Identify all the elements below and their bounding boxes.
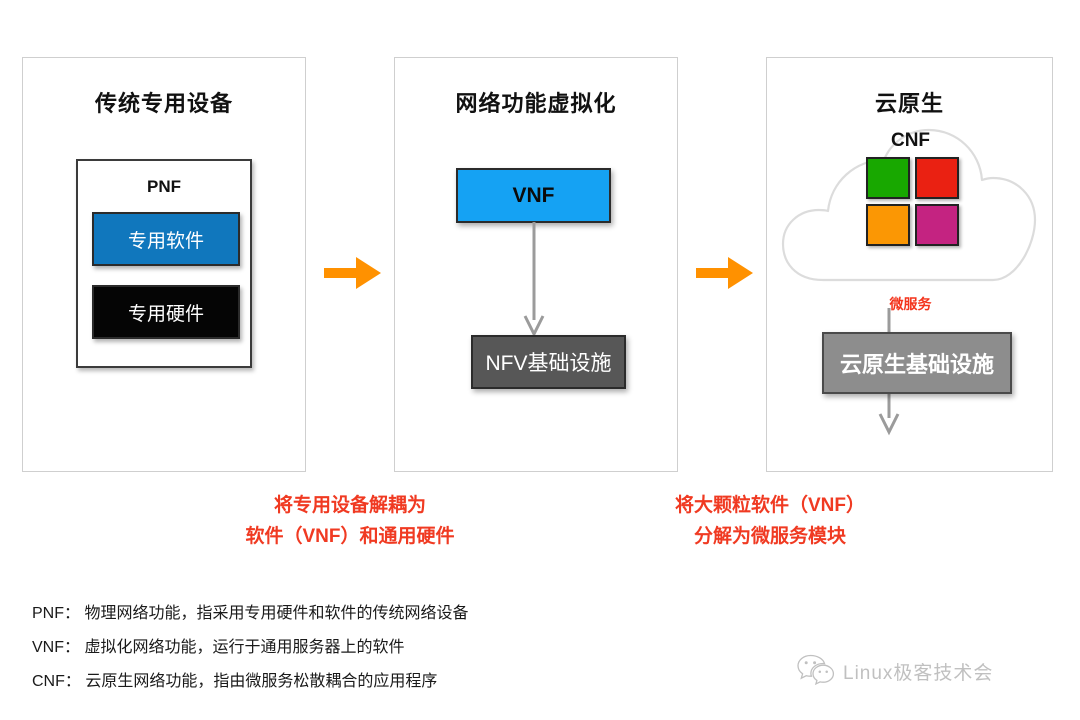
arrow-nfv-to-cloudnative-icon (694, 250, 756, 296)
legend-desc-vnf: 虚拟化网络功能，运行于通用服务器上的软件 (84, 639, 404, 656)
legend: PNF： 物理网络功能，指采用专用硬件和软件的传统网络设备 VNF： 虚拟化网络… (32, 597, 672, 699)
legend-row: CNF： 云原生网络功能，指由微服务松散耦合的应用程序 (32, 665, 672, 699)
caption-decoupling-line1: 将专用设备解耦为 (215, 490, 485, 521)
microservice-cell-orange (866, 204, 910, 246)
caption-microservice-split-line2: 分解为微服务模块 (635, 521, 905, 552)
panel-nfv: 网络功能虚拟化 VNF NFV基础设施 (394, 57, 678, 472)
pnf-label: PNF (78, 177, 250, 197)
panel-title-nfv: 网络功能虚拟化 (395, 86, 677, 118)
legend-desc-cnf: 云原生网络功能，指由微服务松散耦合的应用程序 (85, 673, 437, 690)
panel-cloud-native: 云原生 CNF 微服务 云原生基础设施 (766, 57, 1053, 472)
watermark-text: Linux极客技术会 (843, 658, 993, 685)
legend-row: VNF： 虚拟化网络功能，运行于通用服务器上的软件 (32, 631, 672, 665)
nfv-infrastructure-box: NFV基础设施 (471, 335, 626, 389)
panel-title-cloud-native: 云原生 (767, 86, 1052, 118)
microservice-caption: 微服务 (767, 294, 1054, 314)
cnf-label: CNF (767, 130, 1054, 152)
panel-traditional-appliance: 传统专用设备 PNF 专用软件 专用硬件 (22, 57, 306, 472)
legend-key-vnf: VNF： (32, 639, 80, 656)
watermark: Linux极客技术会 (797, 653, 993, 690)
caption-microservice-split: 将大颗粒软件（VNF） 分解为微服务模块 (635, 490, 905, 552)
vnf-box: VNF (456, 168, 611, 223)
legend-key-pnf: PNF： (32, 605, 80, 622)
dedicated-software-block: 专用软件 (92, 212, 240, 266)
vnf-to-nfvi-connector-arrow (522, 222, 546, 338)
microservice-cell-green (866, 157, 910, 199)
caption-microservice-split-line1: 将大颗粒软件（VNF） (635, 490, 905, 521)
microservice-cell-red (915, 157, 959, 199)
microservice-cell-magenta (915, 204, 959, 246)
caption-decoupling-line2: 软件（VNF）和通用硬件 (215, 521, 485, 552)
dedicated-hardware-block: 专用硬件 (92, 285, 240, 339)
legend-key-cnf: CNF： (32, 673, 81, 690)
cloud-native-infrastructure-box: 云原生基础设施 (822, 332, 1012, 394)
legend-row: PNF： 物理网络功能，指采用专用硬件和软件的传统网络设备 (32, 597, 672, 631)
arrow-traditional-to-nfv-icon (322, 250, 384, 296)
legend-desc-pnf: 物理网络功能，指采用专用硬件和软件的传统网络设备 (84, 605, 468, 622)
caption-decoupling: 将专用设备解耦为 软件（VNF）和通用硬件 (215, 490, 485, 552)
panel-title-traditional: 传统专用设备 (23, 86, 305, 118)
microservice-grid (866, 157, 960, 251)
pnf-group-box: PNF 专用软件 专用硬件 (76, 159, 252, 368)
wechat-icon (797, 653, 835, 690)
